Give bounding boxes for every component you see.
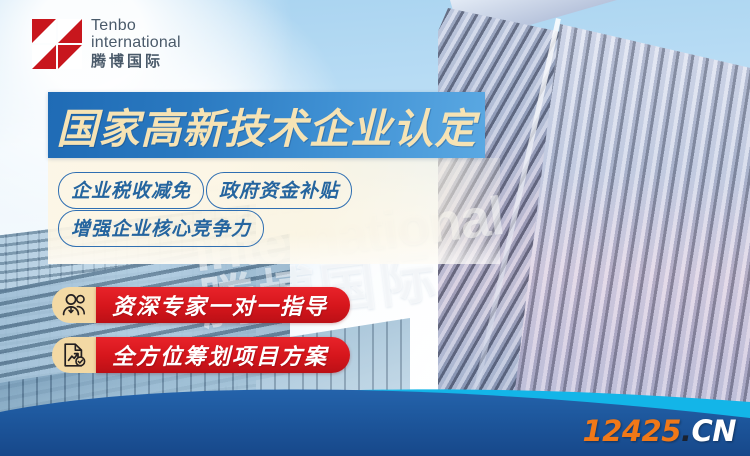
hero-title: 国家高新技术企业认定	[57, 95, 477, 155]
benefit-tag-government-subsidy[interactable]: 政府资金补贴	[206, 172, 352, 209]
site-watermark-tld: CN	[691, 414, 736, 448]
document-chart-check-icon	[61, 342, 87, 368]
benefit-tag-core-competitiveness[interactable]: 增强企业核心竞争力	[58, 210, 264, 247]
feature-badge-2	[52, 337, 96, 373]
benefit-tags-row-1: 企业税收减免 政府资金补贴	[58, 172, 352, 209]
brand-logo[interactable]: Tenbo international 腾博国际	[32, 18, 181, 69]
promotional-banner: Tenbo international 腾博国际 Tenbo internati…	[0, 0, 750, 456]
feature-button-project-planning[interactable]: 全方位筹划项目方案	[52, 337, 350, 373]
feature-button-expert-guidance[interactable]: 资深专家一对一指导	[52, 287, 350, 323]
brand-name-cn: 腾博国际	[91, 54, 181, 69]
site-watermark: 12425.CN	[583, 417, 737, 446]
feature-bar-1: 资深专家一对一指导	[96, 287, 350, 323]
brand-name-en-line1: Tenbo	[91, 18, 181, 34]
site-watermark-dot: .	[681, 414, 692, 448]
feature-label-project-planning: 全方位筹划项目方案	[112, 339, 328, 371]
benefit-tag-tax-reduction[interactable]: 企业税收减免	[58, 172, 204, 209]
brand-name-en-line2: international	[91, 35, 181, 51]
feature-bar-2: 全方位筹划项目方案	[96, 337, 350, 373]
feature-label-expert-guidance: 资深专家一对一指导	[112, 289, 328, 321]
site-watermark-number: 12425	[583, 414, 681, 448]
hero-title-banner: 国家高新技术企业认定	[48, 92, 485, 158]
brand-wordmark: Tenbo international 腾博国际	[91, 18, 181, 69]
tenbo-checker-logo-icon	[32, 19, 82, 69]
benefit-tags-row-2: 增强企业核心竞争力	[58, 210, 264, 247]
feature-badge-1	[52, 287, 96, 323]
users-group-icon	[61, 293, 87, 317]
